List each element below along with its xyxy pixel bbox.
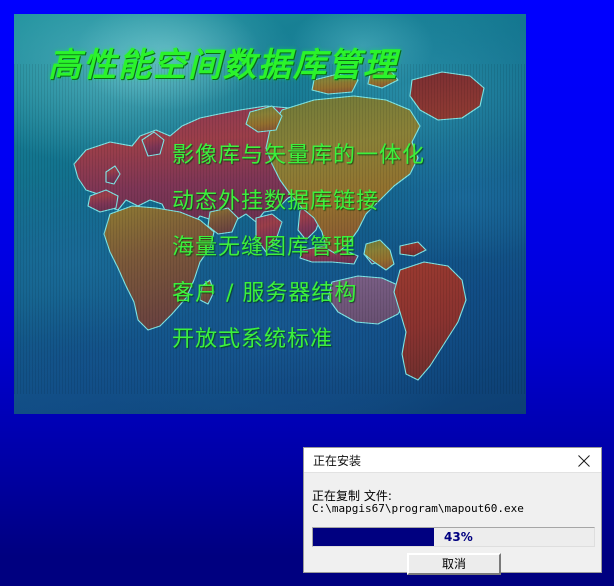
desktop-background: 高性能空间数据库管理 影像库与矢量库的一体化 动态外挂数据库链接 海量无缝图库管… xyxy=(0,0,614,586)
splash-title: 高性能空间数据库管理 xyxy=(48,38,398,86)
close-icon-glyph xyxy=(578,455,590,467)
splash-feature-item: 开放式系统标准 xyxy=(172,317,512,363)
install-progress-dialog: 正在安装 正在复制 文件: C:\mapgis67\program\mapout… xyxy=(303,447,602,573)
splash-feature-list: 影像库与矢量库的一体化 动态外挂数据库链接 海量无缝图库管理 客户 / 服务器结… xyxy=(172,133,512,363)
progress-percent-label: 43% xyxy=(444,530,473,544)
close-icon[interactable] xyxy=(567,448,601,472)
splash-feature-item: 客户 / 服务器结构 xyxy=(172,271,512,317)
splash-feature-item: 海量无缝图库管理 xyxy=(172,225,512,271)
progress-bar: 43% xyxy=(312,527,595,547)
splash-feature-item: 影像库与矢量库的一体化 xyxy=(172,133,512,179)
dialog-title: 正在安装 xyxy=(313,452,361,469)
dialog-body: 正在复制 文件: C:\mapgis67\program\mapout60.ex… xyxy=(304,473,601,573)
dialog-titlebar: 正在安装 xyxy=(304,448,601,473)
copy-file-path: C:\mapgis67\program\mapout60.exe xyxy=(312,502,524,515)
progress-bar-fill xyxy=(313,528,434,546)
cancel-button[interactable]: 取消 xyxy=(407,553,501,575)
splash-feature-item: 动态外挂数据库链接 xyxy=(172,179,512,225)
splash-screen: 高性能空间数据库管理 影像库与矢量库的一体化 动态外挂数据库链接 海量无缝图库管… xyxy=(14,14,526,414)
